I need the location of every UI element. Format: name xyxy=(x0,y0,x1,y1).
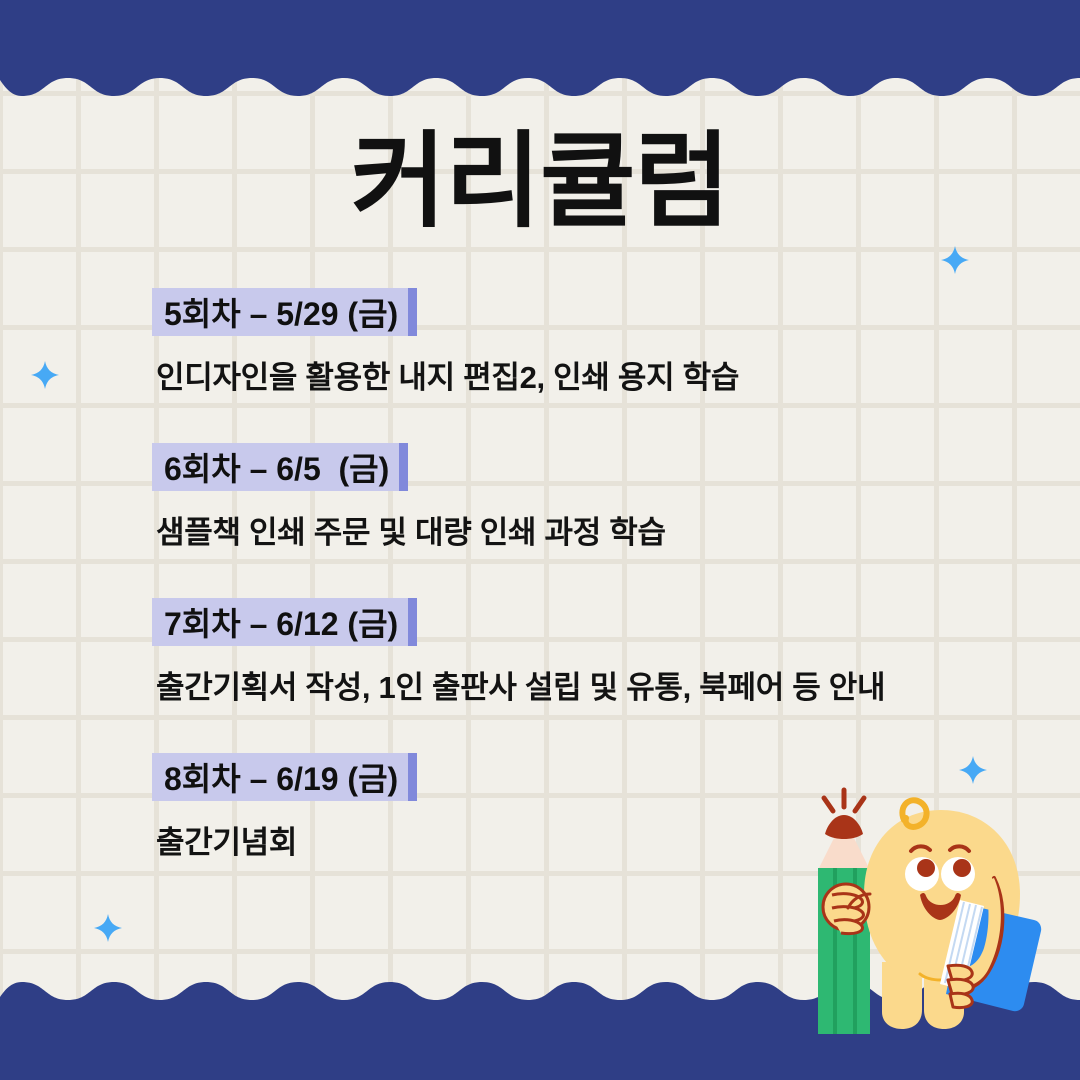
session-accent-bar xyxy=(408,753,417,801)
session-accent-bar xyxy=(408,598,417,646)
mascot-character-illustration xyxy=(798,782,1080,1038)
sparkle-bottom-left-icon xyxy=(93,913,123,943)
session-label-highlight: 8회차 – 6/19 (금) xyxy=(152,753,417,801)
session-label-highlight: 7회차 – 6/12 (금) xyxy=(152,598,417,646)
session-item: 5회차 – 5/29 (금) 인디자인을 활용한 내지 편집2, 인쇄 용지 학… xyxy=(152,288,1052,397)
curriculum-session-list: 5회차 – 5/29 (금) 인디자인을 활용한 내지 편집2, 인쇄 용지 학… xyxy=(152,288,1052,862)
session-description: 샘플책 인쇄 주문 및 대량 인쇄 과정 학습 xyxy=(152,507,1052,552)
session-description: 인디자인을 활용한 내지 편집2, 인쇄 용지 학습 xyxy=(152,352,1052,397)
session-description: 출간기획서 작성, 1인 출판사 설립 및 유통, 북페어 등 안내 xyxy=(152,662,1052,707)
session-label-highlight: 5회차 – 5/29 (금) xyxy=(152,288,417,336)
top-wave-band xyxy=(0,0,1080,110)
session-item: 7회차 – 6/12 (금) 출간기획서 작성, 1인 출판사 설립 및 유통,… xyxy=(152,598,1052,707)
session-label-text: 8회차 – 6/19 (금) xyxy=(152,753,408,801)
session-item: 6회차 – 6/5 (금) 샘플책 인쇄 주문 및 대량 인쇄 과정 학습 xyxy=(152,443,1052,552)
page-title: 커리큘럼 xyxy=(0,128,1080,237)
sparkle-top-right-icon xyxy=(940,245,970,275)
sparkle-left-upper-icon xyxy=(30,360,60,390)
session-label-text: 7회차 – 6/12 (금) xyxy=(152,598,408,646)
session-label-text: 6회차 – 6/5 (금) xyxy=(152,443,399,491)
session-label-highlight: 6회차 – 6/5 (금) xyxy=(152,443,408,491)
poster-canvas: 커리큘럼 5회차 – 5/29 (금) 인디자인을 활용한 내지 편집2, 인쇄… xyxy=(0,0,1080,1080)
session-label-text: 5회차 – 5/29 (금) xyxy=(152,288,408,336)
session-accent-bar xyxy=(399,443,408,491)
right-hand xyxy=(948,965,973,1007)
session-accent-bar xyxy=(408,288,417,336)
